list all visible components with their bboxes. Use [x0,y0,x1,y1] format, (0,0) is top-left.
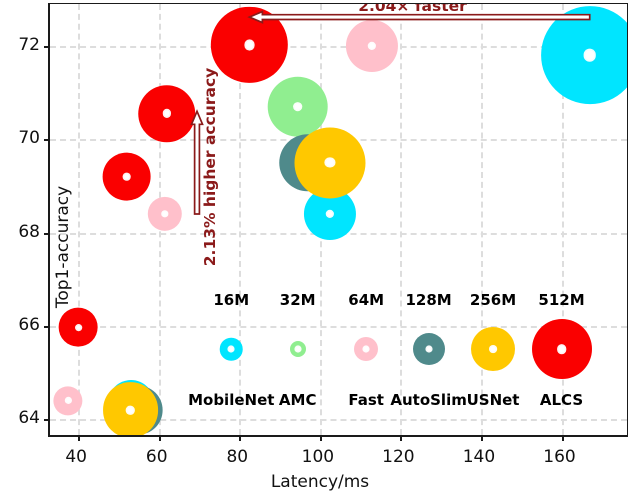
y-tick-mark [44,139,50,141]
x-axis-label: Latency/ms [0,472,640,492]
x-tick-mark [78,435,80,441]
y-tick-label: 72 [18,35,40,55]
figure: 16MMobileNet32MAMC64MFast128MAutoSlim256… [0,0,640,493]
y-axis-label: Top1-accuracy [53,185,73,307]
x-tick-label: 80 [226,447,248,467]
y-tick-mark [44,326,50,328]
x-tick-label: 160 [543,447,575,467]
x-tick-label: 100 [302,447,334,467]
plot-area: 16MMobileNet32MAMC64MFast128MAutoSlim256… [48,3,628,437]
annotation-text-speedup: 2.04× faster [358,4,467,15]
y-tick-label: 66 [18,315,40,335]
annotation-text-accuracy-gain: 2.13% higher accuracy [201,68,219,266]
y-tick-mark [44,419,50,421]
y-tick-label: 64 [18,408,40,428]
x-tick-mark [481,435,483,441]
x-tick-mark [562,435,564,441]
y-tick-label: 68 [18,222,40,242]
x-tick-label: 40 [65,447,87,467]
x-tick-mark [400,435,402,441]
x-tick-label: 60 [146,447,168,467]
x-tick-label: 140 [463,447,495,467]
annotation-layer [50,4,627,435]
x-tick-label: 120 [382,447,414,467]
x-tick-mark [239,435,241,441]
x-tick-mark [320,435,322,441]
x-tick-mark [159,435,161,441]
plot-clip: 16MMobileNet32MAMC64MFast128MAutoSlim256… [50,4,627,435]
y-tick-label: 70 [18,128,40,148]
y-tick-mark [44,46,50,48]
y-tick-mark [44,233,50,235]
